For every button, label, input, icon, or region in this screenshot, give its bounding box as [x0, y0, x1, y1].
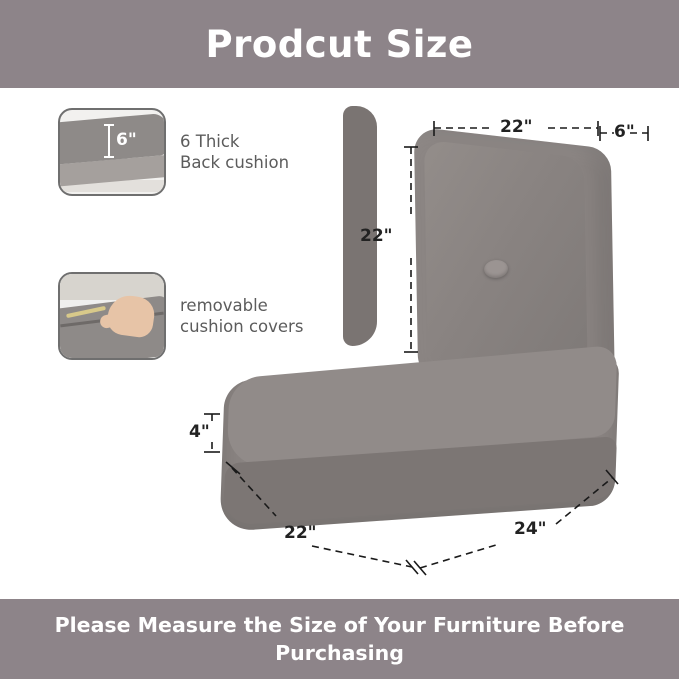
- dimension-back-height: 22": [360, 226, 393, 246]
- dimension-seat-thickness: 4": [189, 422, 210, 442]
- thumb-upper-panel: [60, 274, 164, 300]
- thumb-measure-label: 6": [116, 130, 137, 150]
- page-title: Prodcut Size: [205, 23, 473, 66]
- thumb-measure-arrow-icon: [108, 124, 110, 158]
- product-size-infographic: Prodcut Size 6" 6 Thick Back cushion rem…: [0, 0, 679, 679]
- footer-line-1: Please Measure the Size of Your Furnitur…: [55, 612, 625, 638]
- dimension-seat-width: 22": [284, 523, 317, 543]
- footer-band: Please Measure the Size of Your Furnitur…: [0, 599, 679, 679]
- cushion-illustration: [180, 100, 660, 590]
- feature-thumbnail-back-cushion: 6": [58, 108, 166, 196]
- feature-thumbnail-removable-covers: [58, 272, 166, 360]
- footer-line-2: Purchasing: [275, 640, 404, 666]
- dimension-back-depth: 6": [614, 122, 635, 142]
- dimension-back-width: 22": [500, 117, 533, 137]
- dimension-seat-depth: 24": [514, 519, 547, 539]
- header-band: Prodcut Size: [0, 0, 679, 88]
